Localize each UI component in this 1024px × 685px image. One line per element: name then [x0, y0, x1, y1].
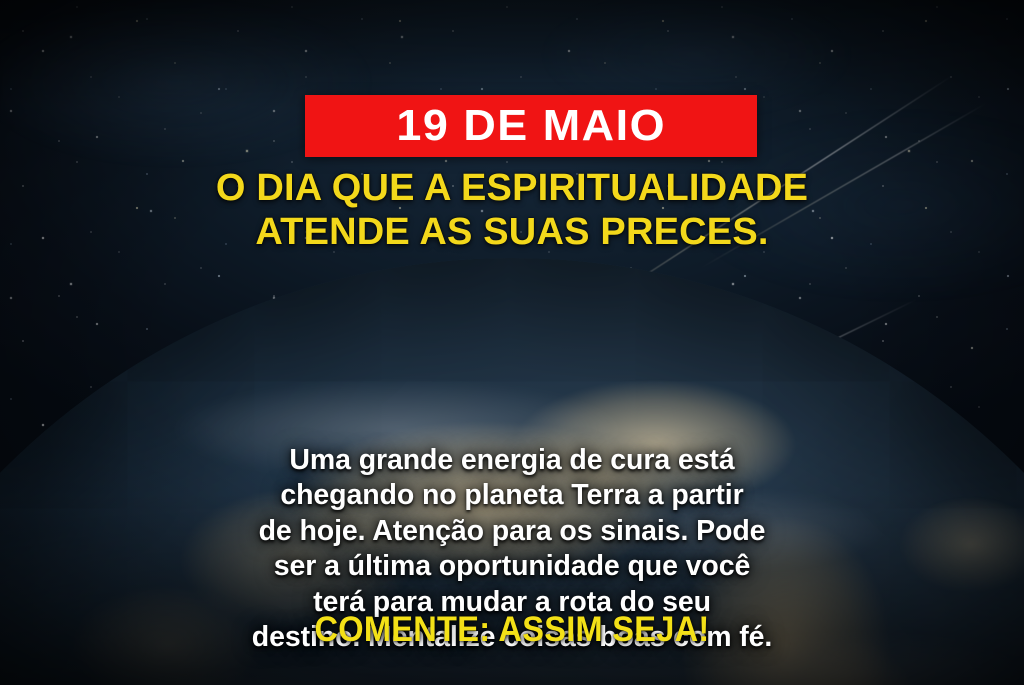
date-banner-label: 19 DE MAIO — [396, 104, 666, 148]
headline: O DIA QUE A ESPIRITUALIDADE ATENDE AS SU… — [0, 166, 1024, 254]
poster-canvas: 19 DE MAIO O DIA QUE A ESPIRITUALIDADE A… — [0, 0, 1024, 685]
date-banner: 19 DE MAIO — [305, 95, 757, 157]
poster-content: 19 DE MAIO O DIA QUE A ESPIRITUALIDADE A… — [0, 0, 1024, 685]
body-line-4: ser a última oportunidade que você — [44, 549, 980, 584]
body-line-1: Uma grande energia de cura está — [44, 443, 980, 478]
headline-line-2: ATENDE AS SUAS PRECES. — [36, 210, 988, 254]
call-to-action-text: COMENTE: ASSIM SEJA! — [36, 612, 988, 647]
headline-line-1: O DIA QUE A ESPIRITUALIDADE — [216, 167, 808, 209]
body-line-2: chegando no planeta Terra a partir — [44, 478, 980, 513]
body-line-3: de hoje. Atenção para os sinais. Pode — [44, 514, 980, 549]
